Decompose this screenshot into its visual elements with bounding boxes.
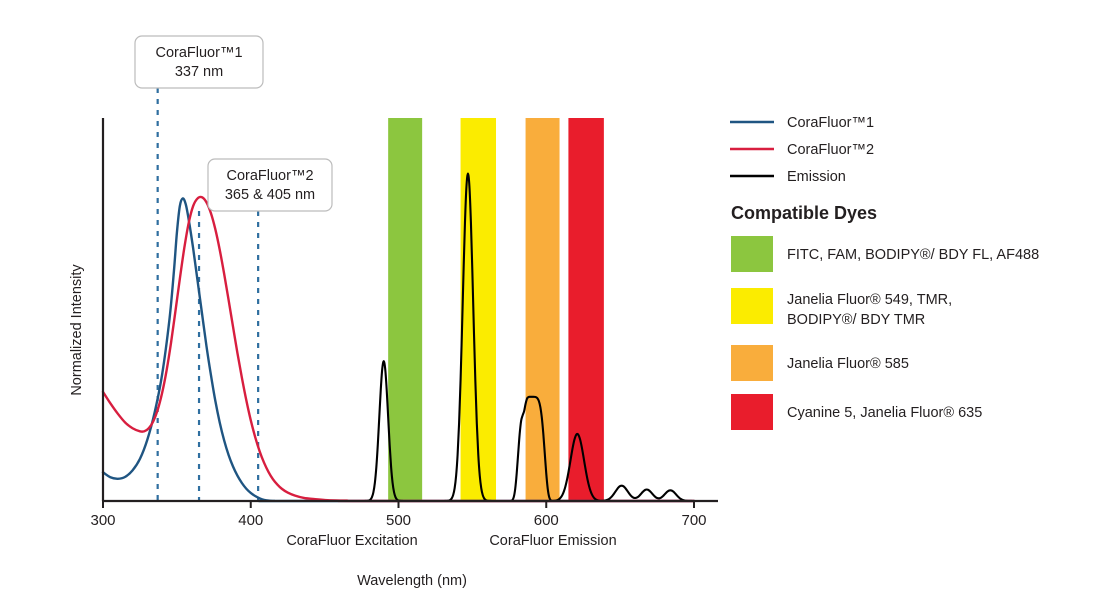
x-tick-label-700: 700 — [681, 512, 706, 529]
compatible-dyes-heading: Compatible Dyes — [731, 203, 877, 223]
legend-label-1: CoraFluor™1 — [787, 115, 874, 131]
dye-label-2-line2: BODIPY®/ BDY TMR — [787, 312, 925, 328]
fluorescence-spectra-figure: 300400500600700CoraFluor ExcitationCoraF… — [0, 0, 1110, 612]
dye-swatch-3 — [731, 345, 773, 381]
corafluor2-callout-box — [208, 159, 332, 211]
x-tick-label-600: 600 — [534, 512, 559, 529]
dye-label-1-line1: FITC, FAM, BODIPY®/ BDY FL, AF488 — [787, 247, 1039, 263]
axis-region-label-1: CoraFluor Excitation — [286, 533, 417, 549]
green-band — [388, 118, 422, 501]
dye-swatch-4 — [731, 394, 773, 430]
dye-label-2-line1: Janelia Fluor® 549, TMR, — [787, 292, 952, 308]
x-tick-label-400: 400 — [238, 512, 263, 529]
orange-band — [526, 118, 560, 501]
x-axis-title: Wavelength (nm) — [357, 573, 467, 589]
x-tick-label-500: 500 — [386, 512, 411, 529]
x-tick-label-300: 300 — [90, 512, 115, 529]
dye-label-4-line1: Cyanine 5, Janelia Fluor® 635 — [787, 405, 982, 421]
legend-label-3: Emission — [787, 169, 846, 185]
corafluor2-callout-line1: CoraFluor™2 — [226, 168, 313, 184]
dye-swatch-1 — [731, 236, 773, 272]
dye-label-3-line1: Janelia Fluor® 585 — [787, 356, 909, 372]
y-axis-title: Normalized Intensity — [69, 264, 85, 396]
corafluor2-callout: CoraFluor™2365 & 405 nm — [208, 159, 332, 211]
corafluor1-callout-box — [135, 36, 263, 88]
dye-swatch-2 — [731, 288, 773, 324]
corafluor1-callout: CoraFluor™1337 nm — [135, 36, 263, 88]
axis-region-label-2: CoraFluor Emission — [489, 533, 616, 549]
corafluor1-callout-line2: 337 nm — [175, 64, 223, 80]
legend-label-2: CoraFluor™2 — [787, 142, 874, 158]
corafluor2-callout-line2: 365 & 405 nm — [225, 187, 315, 203]
corafluor1-callout-line1: CoraFluor™1 — [155, 45, 242, 61]
